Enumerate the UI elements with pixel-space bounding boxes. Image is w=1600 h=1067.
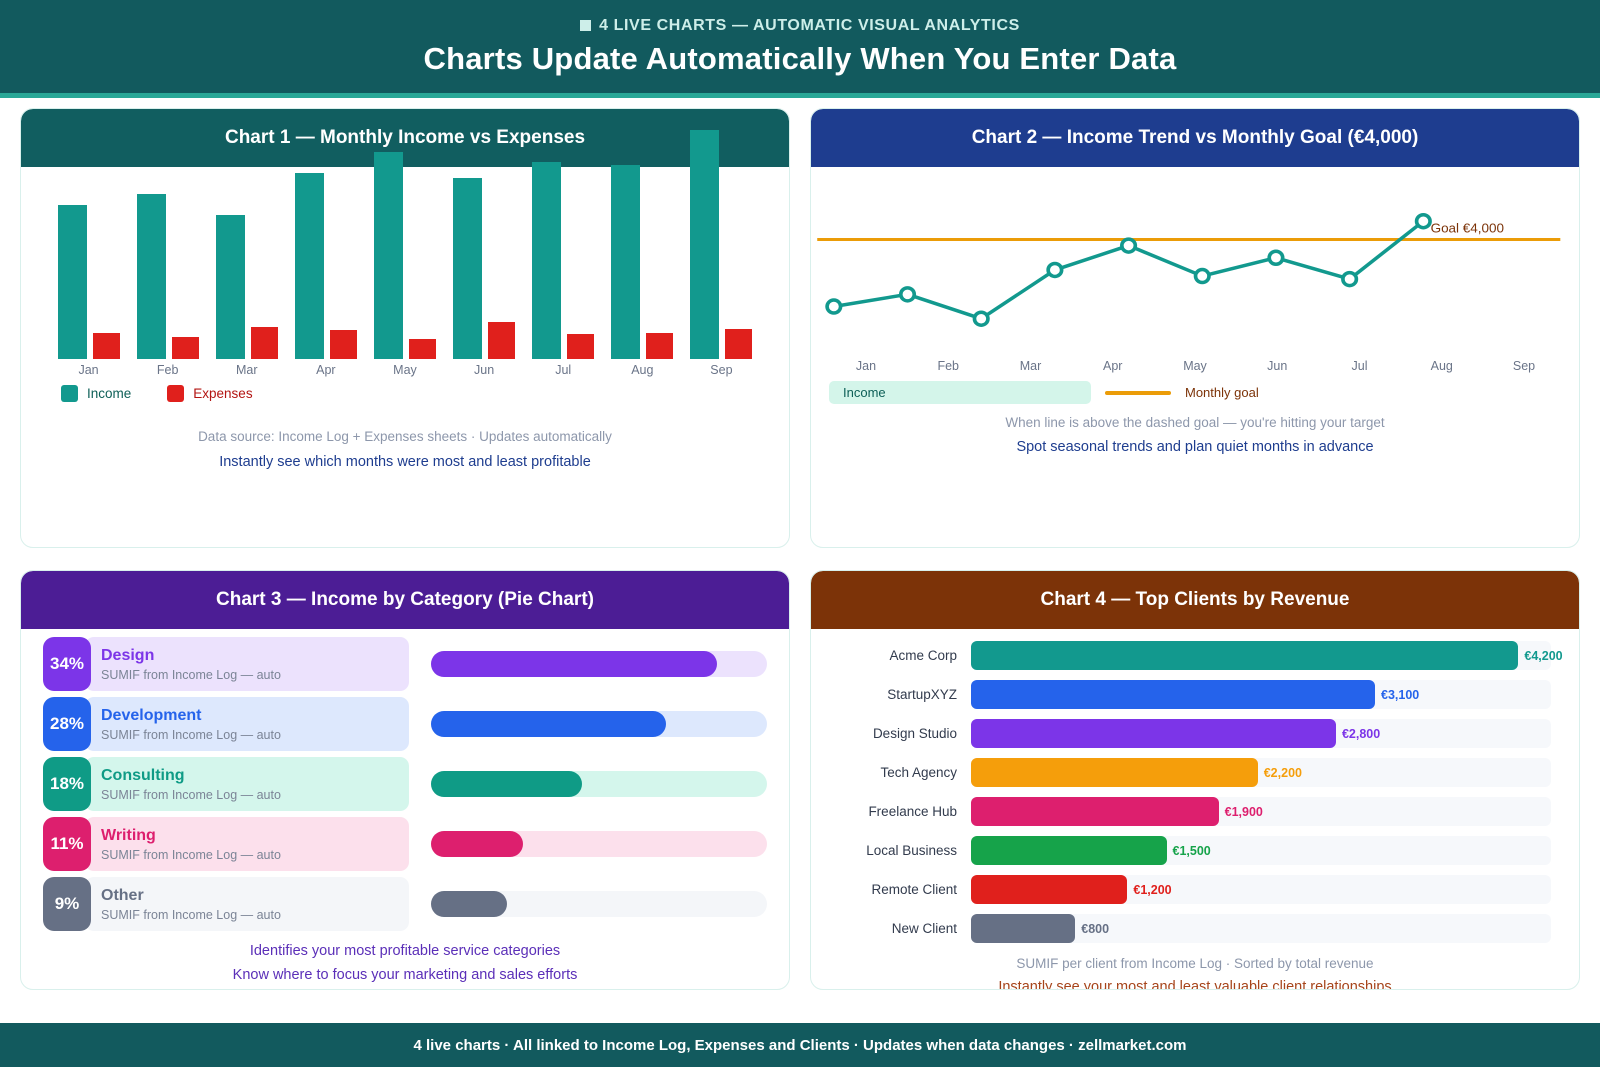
bar-group [532,162,594,359]
x-tick-label: Aug [607,363,677,381]
income-bar [58,205,87,359]
square-bullet-icon [580,20,591,31]
legend-item-expenses: Expenses [167,385,252,402]
client-value-label: €3,100 [1381,688,1419,702]
header-kicker: 4 LIVE CHARTS — AUTOMATIC VISUAL ANALYTI… [580,17,1020,35]
category-name: Consulting [101,766,409,785]
chart-1-source-caption: Data source: Income Log + Expenses sheet… [21,429,789,444]
page-title: Charts Update Automatically When You Ent… [424,41,1177,77]
bar-group [453,178,515,359]
charts-grid: Chart 1 — Monthly Income vs Expenses Jan… [0,98,1600,990]
x-tick-label: Apr [1076,359,1150,373]
chart-card-2: Chart 2 — Income Trend vs Monthly Goal (… [810,108,1580,548]
income-line [834,221,1423,319]
chart-3-secondary-caption: Know where to focus your marketing and s… [21,967,789,983]
expenses-bar [409,339,436,359]
category-name: Other [101,886,409,905]
client-row[interactable]: StartupXYZ€3,100 [839,680,1551,709]
category-info: 34%DesignSUMIF from Income Log — auto [43,637,409,691]
expenses-swatch-icon [167,385,184,402]
data-point [1269,251,1282,264]
bar-group [374,152,436,359]
client-value-label: €800 [1081,922,1109,936]
client-bar-fill [971,875,1127,904]
category-source: SUMIF from Income Log — auto [101,848,409,862]
category-bar-track [431,771,767,797]
data-point [901,288,914,301]
client-bar-track: €2,800 [971,719,1551,748]
chart-2-x-axis: JanFebMarAprMayJunJulAugSep [811,359,1579,373]
client-row[interactable]: Local Business€1,500 [839,836,1551,865]
x-tick-label: Aug [1405,359,1479,373]
page-header: 4 LIVE CHARTS — AUTOMATIC VISUAL ANALYTI… [0,0,1600,98]
category-info: 11%WritingSUMIF from Income Log — auto [43,817,409,871]
expenses-bar [725,329,752,359]
goal-label: Goal €4,000 [1431,221,1504,236]
client-name: Local Business [839,843,971,858]
category-bar-track [431,711,767,737]
client-bar-fill [971,914,1075,943]
legend-label-income: Income [87,386,131,401]
expenses-bar [251,327,278,359]
data-point [974,312,987,325]
income-bar [611,165,640,359]
expenses-bar [330,330,357,359]
data-point [1343,273,1356,286]
expenses-bar [488,322,515,359]
client-bar-fill [971,758,1258,787]
client-bar-track: €1,900 [971,797,1551,826]
x-tick-label: Sep [1487,359,1561,373]
data-point [827,300,840,313]
expenses-bar [93,333,120,359]
income-swatch-icon [61,385,78,402]
legend-label-expenses: Expenses [193,386,252,401]
x-tick-label: May [370,363,440,381]
category-percent-badge: 11% [43,817,91,871]
goal-line-swatch-icon [1105,391,1171,395]
client-row[interactable]: Freelance Hub€1,900 [839,797,1551,826]
client-value-label: €1,200 [1133,883,1171,897]
chart-2-plot: Goal €4,000 [811,189,1579,379]
client-name: Acme Corp [839,648,971,663]
x-tick-label: Jun [449,363,519,381]
chart-1-x-axis: JanFebMarAprMayJunJulAugSep [21,363,789,381]
category-text: ConsultingSUMIF from Income Log — auto [85,757,409,811]
data-point [1048,263,1061,276]
chart-1-insight-caption: Instantly see which months were most and… [21,454,789,470]
data-point [1122,239,1135,252]
data-point [1196,270,1209,283]
category-row[interactable]: 34%DesignSUMIF from Income Log — auto [43,637,767,691]
bar-group [611,165,673,359]
client-name: Design Studio [839,726,971,741]
category-percent-badge: 18% [43,757,91,811]
chart-2-body: Goal €4,000 JanFebMarAprMayJunJulAugSep … [811,167,1579,547]
legend-label-monthly-goal: Monthly goal [1185,385,1259,400]
x-tick-label: Apr [291,363,361,381]
x-tick-label: Mar [994,359,1068,373]
chart-4-client-list: Acme Corp€4,200StartupXYZ€3,100Design St… [811,629,1579,943]
chart-3-body: 34%DesignSUMIF from Income Log — auto28%… [21,629,789,990]
category-source: SUMIF from Income Log — auto [101,668,409,682]
income-bar [532,162,561,359]
x-tick-label: Jul [528,363,598,381]
chart-1-title: Chart 1 — Monthly Income vs Expenses [21,109,789,167]
client-bar-track: €4,200 [971,641,1551,670]
category-name: Design [101,646,409,665]
chart-3-captions: Identifies your most profitable service … [21,931,789,983]
chart-card-3: Chart 3 — Income by Category (Pie Chart)… [20,570,790,990]
category-bar-track [431,891,767,917]
client-bar-fill [971,797,1219,826]
chart-1-legend: Income Expenses [61,385,253,402]
category-info: 9%OtherSUMIF from Income Log — auto [43,877,409,931]
x-tick-label: Jan [829,359,903,373]
client-bar-track: €3,100 [971,680,1551,709]
chart-4-insight-caption: Instantly see your most and least valuab… [811,979,1579,990]
client-row[interactable]: New Client€800 [839,914,1551,943]
chart-3-category-list: 34%DesignSUMIF from Income Log — auto28%… [21,629,789,931]
legend-item-income: Income [61,385,131,402]
expenses-bar [646,333,673,359]
expenses-bar [172,337,199,359]
footer-text: 4 live charts · All linked to Income Log… [414,1037,1187,1054]
chart-4-source-caption: SUMIF per client from Income Log · Sorte… [811,956,1579,971]
category-source: SUMIF from Income Log — auto [101,908,409,922]
chart-3-insight-caption: Identifies your most profitable service … [21,943,789,959]
chart-2-legend: Income Monthly goal [829,381,1561,404]
income-bar [137,194,166,359]
income-bar [295,173,324,359]
category-text: DesignSUMIF from Income Log — auto [85,637,409,691]
category-bar-fill [431,651,717,677]
chart-1-body: JanFebMarAprMayJunJulAugSep Income Expen… [21,167,789,547]
category-percent-badge: 34% [43,637,91,691]
x-tick-label: Jun [1240,359,1314,373]
client-name: Remote Client [839,882,971,897]
client-bar-fill [971,836,1167,865]
category-name: Development [101,706,409,725]
client-bar-track: €800 [971,914,1551,943]
category-text: OtherSUMIF from Income Log — auto [85,877,409,931]
chart-card-1: Chart 1 — Monthly Income vs Expenses Jan… [20,108,790,548]
income-bar [453,178,482,359]
income-bar [374,152,403,359]
x-tick-label: Sep [686,363,756,381]
client-row[interactable]: Tech Agency€2,200 [839,758,1551,787]
category-bar-track [431,651,767,677]
category-text: WritingSUMIF from Income Log — auto [85,817,409,871]
client-value-label: €1,900 [1225,805,1263,819]
category-source: SUMIF from Income Log — auto [101,788,409,802]
header-kicker-text: 4 LIVE CHARTS — AUTOMATIC VISUAL ANALYTI… [599,17,1020,35]
client-value-label: €4,200 [1524,649,1562,663]
x-tick-label: Mar [212,363,282,381]
expenses-bar [567,334,594,359]
category-percent-badge: 9% [43,877,91,931]
x-tick-label: Jul [1323,359,1397,373]
client-row[interactable]: Remote Client€1,200 [839,875,1551,904]
client-row[interactable]: Acme Corp€4,200 [839,641,1551,670]
chart-2-source-caption: When line is above the dashed goal — you… [811,415,1579,430]
category-row[interactable]: 11%WritingSUMIF from Income Log — auto [43,817,767,871]
x-tick-label: May [1158,359,1232,373]
category-info: 18%ConsultingSUMIF from Income Log — aut… [43,757,409,811]
category-info: 28%DevelopmentSUMIF from Income Log — au… [43,697,409,751]
category-bar-fill [431,891,507,917]
chart-4-body: Acme Corp€4,200StartupXYZ€3,100Design St… [811,629,1579,990]
category-percent-badge: 28% [43,697,91,751]
client-name: StartupXYZ [839,687,971,702]
chart-3-title: Chart 3 — Income by Category (Pie Chart) [21,571,789,629]
category-bar-fill [431,771,582,797]
client-value-label: €2,200 [1264,766,1302,780]
x-tick-label: Jan [54,363,124,381]
bar-group [295,173,357,359]
client-row[interactable]: Design Studio€2,800 [839,719,1551,748]
page-footer: 4 live charts · All linked to Income Log… [0,1023,1600,1067]
client-bar-track: €1,500 [971,836,1551,865]
client-bar-fill [971,641,1518,670]
data-point [1417,215,1430,228]
chart-2-insight-caption: Spot seasonal trends and plan quiet mont… [811,439,1579,455]
category-source: SUMIF from Income Log — auto [101,728,409,742]
client-name: New Client [839,921,971,936]
income-bar [216,215,245,359]
client-bar-track: €1,200 [971,875,1551,904]
chart-1-captions: Data source: Income Log + Expenses sheet… [21,429,789,470]
client-value-label: €1,500 [1173,844,1211,858]
client-name: Freelance Hub [839,804,971,819]
client-value-label: €2,800 [1342,727,1380,741]
client-bar-track: €2,200 [971,758,1551,787]
client-name: Tech Agency [839,765,971,780]
chart-4-title: Chart 4 — Top Clients by Revenue [811,571,1579,629]
legend-label-income: Income [829,381,1091,404]
client-bar-fill [971,680,1375,709]
category-row[interactable]: 18%ConsultingSUMIF from Income Log — aut… [43,757,767,811]
client-bar-fill [971,719,1336,748]
bar-group [58,205,120,359]
category-bar-fill [431,711,666,737]
x-tick-label: Feb [911,359,985,373]
category-text: DevelopmentSUMIF from Income Log — auto [85,697,409,751]
chart-4-captions: SUMIF per client from Income Log · Sorte… [811,943,1579,990]
category-row[interactable]: 9%OtherSUMIF from Income Log — auto [43,877,767,931]
chart-2-title: Chart 2 — Income Trend vs Monthly Goal (… [811,109,1579,167]
x-tick-label: Feb [133,363,203,381]
category-bar-track [431,831,767,857]
bar-group [137,194,199,359]
category-name: Writing [101,826,409,845]
chart-2-captions: When line is above the dashed goal — you… [811,415,1579,455]
chart-card-4: Chart 4 — Top Clients by Revenue Acme Co… [810,570,1580,990]
category-bar-fill [431,831,523,857]
bar-group [216,215,278,359]
category-row[interactable]: 28%DevelopmentSUMIF from Income Log — au… [43,697,767,751]
